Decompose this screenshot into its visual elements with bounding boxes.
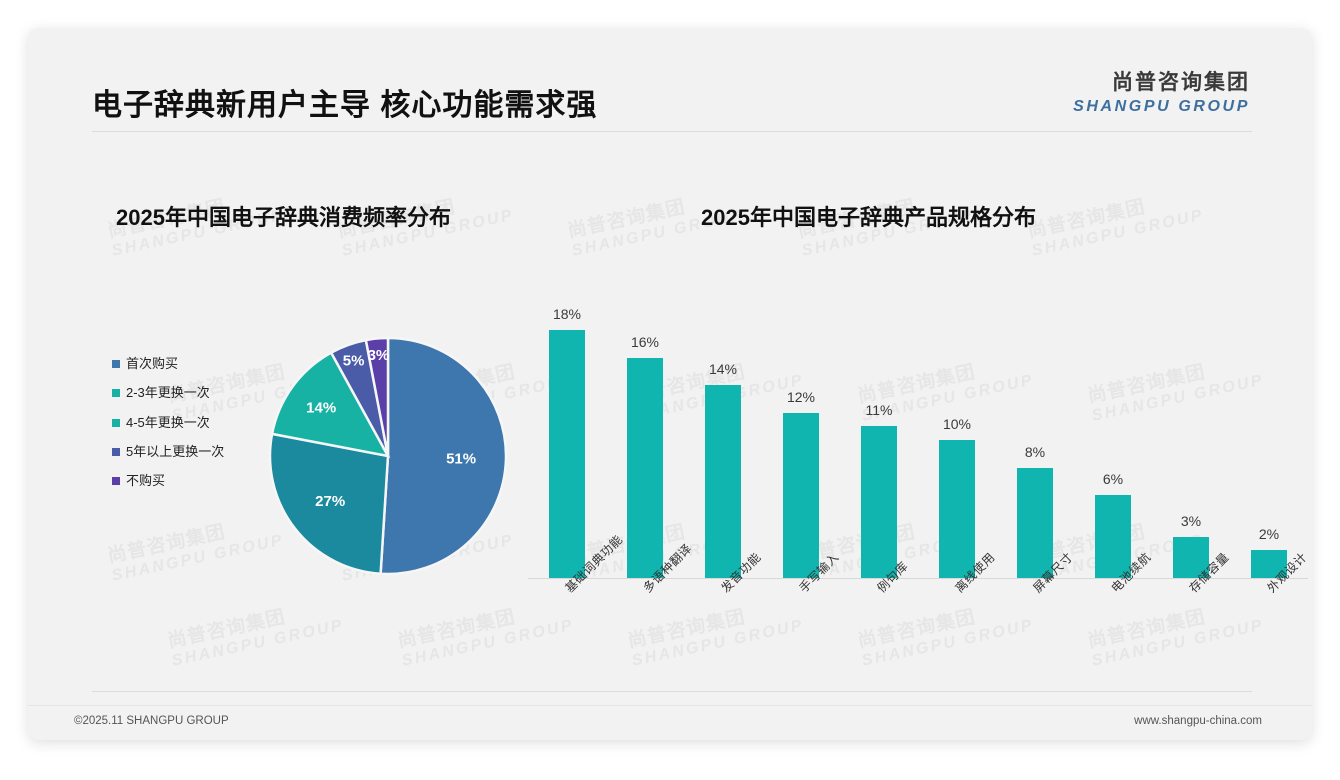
- pie-legend-label: 首次购买: [126, 356, 178, 372]
- bar-column[interactable]: 2%: [1230, 290, 1308, 578]
- header-divider: [92, 131, 1252, 132]
- bar-chart-title: 2025年中国电子辞典产品规格分布: [701, 200, 1036, 232]
- bar-column[interactable]: 14%: [684, 290, 762, 578]
- legend-swatch-icon: [112, 477, 120, 485]
- page-title: 电子辞典新用户主导 核心功能需求强: [92, 80, 597, 124]
- pie-legend-label: 5年以上更换一次: [126, 444, 224, 460]
- bar-column[interactable]: 18%: [528, 290, 606, 578]
- brand-logo: 尚普咨询集团 SHANGPU GROUP: [1073, 66, 1250, 116]
- bar-value-label: 8%: [1025, 444, 1045, 460]
- pie-slice-value: 3%: [368, 347, 390, 364]
- bar-column[interactable]: 3%: [1152, 290, 1230, 578]
- bar-column[interactable]: 11%: [840, 290, 918, 578]
- pie-legend-item[interactable]: 5年以上更换一次: [112, 444, 242, 460]
- bar-value-label: 10%: [943, 416, 971, 432]
- pie-legend-label: 2-3年更换一次: [126, 385, 210, 401]
- slide-footer-bar: ©2025.11 SHANGPU GROUP www.shangpu-china…: [28, 705, 1312, 740]
- pie-chart-title: 2025年中国电子辞典消费频率分布: [116, 200, 451, 232]
- bar-column[interactable]: 8%: [996, 290, 1074, 578]
- pie-legend-item[interactable]: 首次购买: [112, 356, 242, 372]
- bar-value-label: 2%: [1259, 526, 1279, 542]
- slide-header: 电子辞典新用户主导 核心功能需求强 尚普咨询集团 SHANGPU GROUP: [28, 28, 1312, 118]
- bar-value-label: 12%: [787, 389, 815, 405]
- bar-chart-panel: 18%16%14%12%11%10%8%6%3%2% 基础词典功能多语种翻译发音…: [518, 278, 1308, 658]
- bar-rect[interactable]: [627, 358, 663, 578]
- pie-chart-svg: 51%27%14%5%3%: [238, 306, 538, 606]
- pie-legend-item[interactable]: 4-5年更换一次: [112, 415, 242, 431]
- slide-canvas: 尚普咨询集团SHANGPU GROUP尚普咨询集团SHANGPU GROUP尚普…: [28, 28, 1312, 740]
- pie-chart-panel: 首次购买2-3年更换一次4-5年更换一次5年以上更换一次不购买 51%27%14…: [88, 278, 548, 638]
- pie-legend-label: 不购买: [126, 473, 165, 489]
- bar-value-label: 14%: [709, 361, 737, 377]
- pie-legend-label: 4-5年更换一次: [126, 415, 210, 431]
- website-link[interactable]: www.shangpu-china.com: [1134, 715, 1262, 727]
- pie-slice[interactable]: [381, 338, 506, 574]
- pie-legend-item[interactable]: 2-3年更换一次: [112, 385, 242, 401]
- legend-swatch-icon: [112, 360, 120, 368]
- bar-chart-plot: 18%16%14%12%11%10%8%6%3%2%: [528, 290, 1308, 578]
- pie-slice-value: 51%: [446, 450, 476, 467]
- copyright-text: ©2025.11 SHANGPU GROUP: [74, 715, 229, 727]
- pie-slice-value: 5%: [343, 353, 365, 370]
- pie-slice-value: 14%: [306, 399, 336, 416]
- note-divider: [92, 691, 1252, 692]
- legend-swatch-icon: [112, 389, 120, 397]
- bar-column[interactable]: 10%: [918, 290, 996, 578]
- bar-value-label: 18%: [553, 306, 581, 322]
- legend-swatch-icon: [112, 448, 120, 456]
- bar-rect[interactable]: [939, 440, 975, 578]
- pie-slice-value: 27%: [315, 493, 345, 510]
- bar-column[interactable]: 12%: [762, 290, 840, 578]
- bar-rect[interactable]: [783, 413, 819, 578]
- bar-column[interactable]: 6%: [1074, 290, 1152, 578]
- bar-rect[interactable]: [861, 426, 897, 578]
- bar-value-label: 16%: [631, 334, 659, 350]
- bar-value-label: 6%: [1103, 471, 1123, 487]
- bar-rect[interactable]: [549, 330, 585, 578]
- pie-chart-legend: 首次购买2-3年更换一次4-5年更换一次5年以上更换一次不购买: [112, 356, 242, 502]
- bar-rect[interactable]: [1017, 468, 1053, 578]
- watermark-text: 尚普咨询集团SHANGPU GROUP: [1026, 185, 1206, 261]
- brand-logo-en: SHANGPU GROUP: [1073, 98, 1250, 116]
- pie-legend-item[interactable]: 不购买: [112, 473, 242, 489]
- bar-value-label: 3%: [1181, 513, 1201, 529]
- bar-rect[interactable]: [705, 385, 741, 578]
- bar-value-label: 11%: [866, 402, 893, 418]
- brand-logo-cn: 尚普咨询集团: [1073, 66, 1250, 96]
- legend-swatch-icon: [112, 419, 120, 427]
